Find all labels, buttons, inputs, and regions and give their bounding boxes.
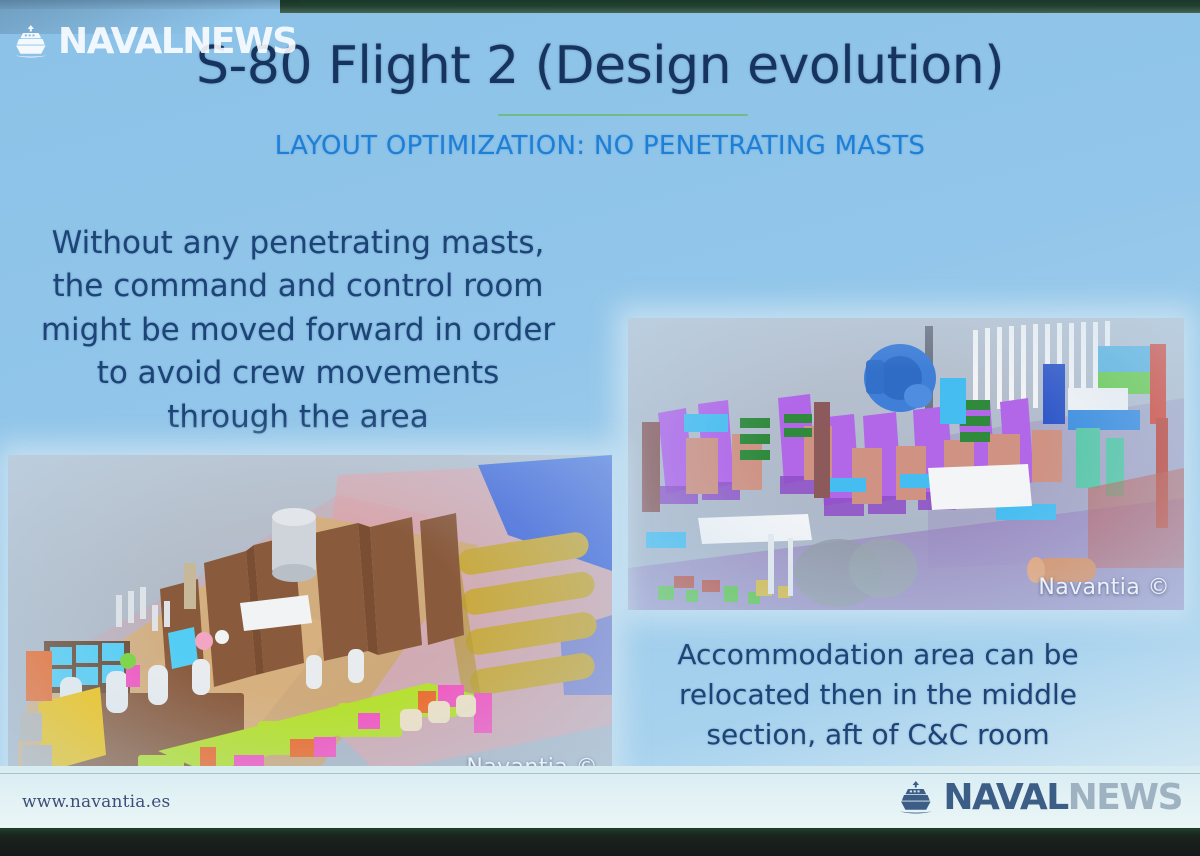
footer-url: www.navantia.es	[22, 792, 170, 812]
screen-edge-bottom	[0, 828, 1200, 856]
footer-divider	[0, 773, 1200, 774]
left-text-line: Without any penetrating masts,	[8, 222, 588, 265]
presentation-slide: S-80 Flight 2 (Design evolution) LAYOUT …	[0, 0, 1200, 856]
slide-subtitle: LAYOUT OPTIMIZATION: NO PENETRATING MAST…	[0, 131, 1200, 161]
ship-icon	[14, 24, 48, 60]
submarine-render-left: Navantia ©	[8, 455, 612, 790]
left-text-line: through the area	[8, 396, 588, 439]
wordmark-news: NEWS	[1068, 780, 1182, 816]
wordmark-naval: NAVAL	[58, 24, 182, 60]
naval-news-watermark-top: NAVAL NEWS	[14, 24, 297, 60]
right-text-block: Accommodation area can be relocated then…	[630, 635, 1126, 754]
naval-news-wordmark: NAVAL NEWS	[943, 780, 1182, 816]
right-text-line: relocated then in the middle	[630, 675, 1126, 715]
wordmark-news: NEWS	[182, 24, 296, 60]
naval-news-wordmark: NAVAL NEWS	[58, 24, 297, 60]
wordmark-naval: NAVAL	[943, 780, 1067, 816]
left-text-line: the command and control room	[8, 265, 588, 308]
left-text-line: to avoid crew movements	[8, 352, 588, 395]
right-text-line: Accommodation area can be	[630, 635, 1126, 675]
left-text-block: Without any penetrating masts, the comma…	[8, 222, 588, 439]
left-text-line: might be moved forward in order	[8, 309, 588, 352]
naval-news-watermark-bottom: NAVAL NEWS	[899, 780, 1182, 816]
right-text-line: section, aft of C&C room	[630, 715, 1126, 755]
submarine-render-right-graphic	[628, 318, 1184, 610]
screen-edge-top	[280, 0, 1200, 13]
submarine-render-right: Navantia ©	[628, 318, 1184, 610]
ship-icon	[899, 780, 933, 816]
title-underline-rule	[498, 114, 748, 116]
submarine-render-left-graphic	[8, 455, 612, 790]
